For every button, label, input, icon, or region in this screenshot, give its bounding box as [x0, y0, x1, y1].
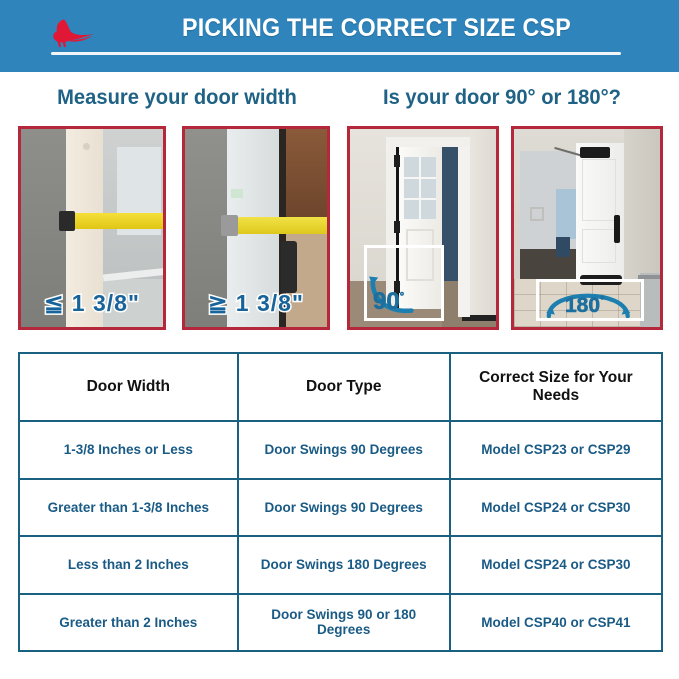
column-header-correct-size: Correct Size for Your Needs: [450, 353, 662, 421]
photo-door-width-narrow: ≦ 1 3/8": [18, 126, 166, 330]
photo-door-swing-90: 90°: [347, 126, 499, 330]
angle-inset-180: 180°: [536, 279, 644, 321]
column-header-door-type: Door Type: [238, 353, 450, 421]
cell-door-type: Door Swings 180 Degrees: [238, 536, 450, 594]
header-underline: [51, 52, 621, 55]
table-row: Greater than 1-3/8 Inches Door Swings 90…: [19, 479, 662, 537]
header-content: PICKING THE CORRECT SIZE CSP: [48, 8, 648, 64]
cell-door-width: Greater than 1-3/8 Inches: [19, 479, 238, 537]
cell-correct-size: Model CSP40 or CSP41: [450, 594, 662, 652]
cell-door-width: Less than 2 Inches: [19, 536, 238, 594]
angle-label-180: 180°: [565, 294, 604, 318]
table-row: 1-3/8 Inches or Less Door Swings 90 Degr…: [19, 421, 662, 479]
cell-door-type: Door Swings 90 Degrees: [238, 479, 450, 537]
size-selection-table: Door Width Door Type Correct Size for Yo…: [18, 352, 663, 652]
table: Door Width Door Type Correct Size for Yo…: [18, 352, 663, 652]
section-heading-door-angle: Is your door 90° or 180°?: [346, 86, 657, 110]
table-row: Less than 2 Inches Door Swings 180 Degre…: [19, 536, 662, 594]
table-row: Greater than 2 Inches Door Swings 90 or …: [19, 594, 662, 652]
photo-caption-wide: ≧ 1 3/8": [185, 290, 327, 317]
photo-row: ≦ 1 3/8" ≧ 1 3/8": [0, 126, 679, 330]
angle-label-90: 90°: [373, 288, 404, 316]
table-header-row: Door Width Door Type Correct Size for Yo…: [19, 353, 662, 421]
cell-correct-size: Model CSP24 or CSP30: [450, 536, 662, 594]
cell-door-width: Greater than 2 Inches: [19, 594, 238, 652]
column-header-door-width: Door Width: [19, 353, 238, 421]
cell-door-width: 1-3/8 Inches or Less: [19, 421, 238, 479]
cell-correct-size: Model CSP23 or CSP29: [450, 421, 662, 479]
cardinal-bird-icon: [48, 16, 94, 52]
photo-door-swing-180: 180°: [511, 126, 663, 330]
cell-correct-size: Model CSP24 or CSP30: [450, 479, 662, 537]
page-header: PICKING THE CORRECT SIZE CSP: [0, 0, 679, 72]
photo-door-width-wide: ≧ 1 3/8": [182, 126, 330, 330]
photo-caption-narrow: ≦ 1 3/8": [21, 290, 163, 317]
section-heading-measure-width: Measure your door width: [24, 86, 329, 110]
cell-door-type: Door Swings 90 Degrees: [238, 421, 450, 479]
page-title: PICKING THE CORRECT SIZE CSP: [123, 11, 630, 45]
cell-door-type: Door Swings 90 or 180 Degrees: [238, 594, 450, 652]
angle-inset-90: 90°: [364, 245, 444, 321]
section-headings: Measure your door width Is your door 90°…: [0, 86, 679, 118]
